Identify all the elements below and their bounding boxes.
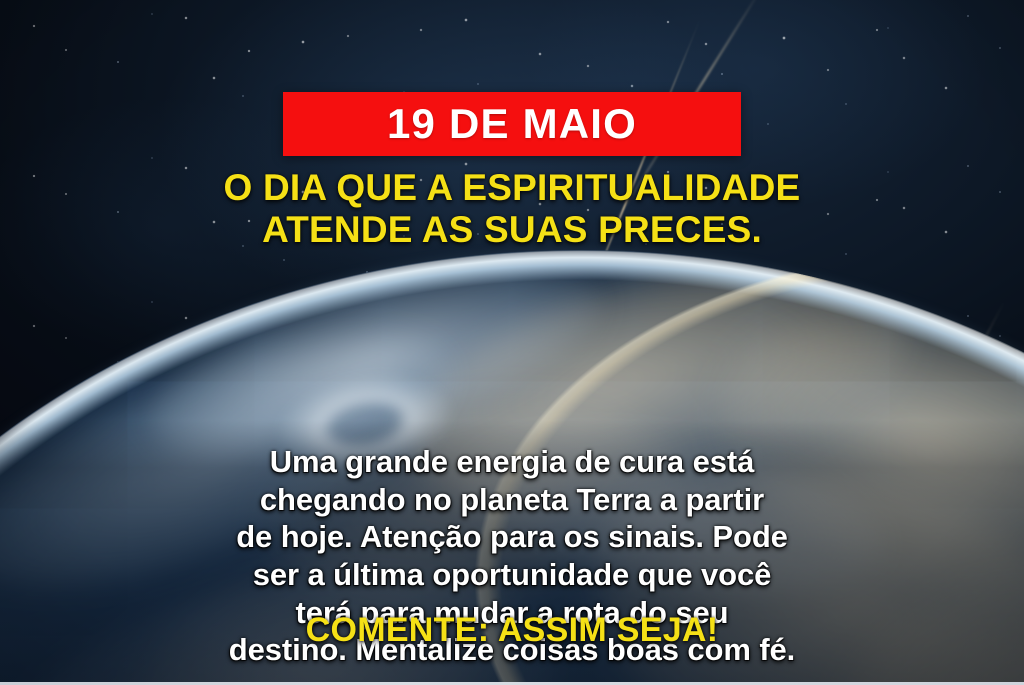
body-line-4: ser a última oportunidade que você <box>0 556 1024 594</box>
headline-line-1: O DIA QUE A ESPIRITUALIDADE <box>0 167 1024 209</box>
date-banner-label: 19 DE MAIO <box>387 103 637 145</box>
date-banner: 19 DE MAIO <box>283 92 741 156</box>
call-to-action-label: COMENTE: ASSIM SEJA! <box>0 613 1024 647</box>
headline: O DIA QUE A ESPIRITUALIDADE ATENDE AS SU… <box>0 167 1024 251</box>
poster-content: 19 DE MAIO O DIA QUE A ESPIRITUALIDADE A… <box>0 0 1024 685</box>
body-line-2: chegando no planeta Terra a partir <box>0 481 1024 519</box>
poster-canvas: 19 DE MAIO O DIA QUE A ESPIRITUALIDADE A… <box>0 0 1024 685</box>
body-line-1: Uma grande energia de cura está <box>0 443 1024 481</box>
headline-line-2: ATENDE AS SUAS PRECES. <box>0 209 1024 251</box>
body-line-3: de hoje. Atenção para os sinais. Pode <box>0 518 1024 556</box>
